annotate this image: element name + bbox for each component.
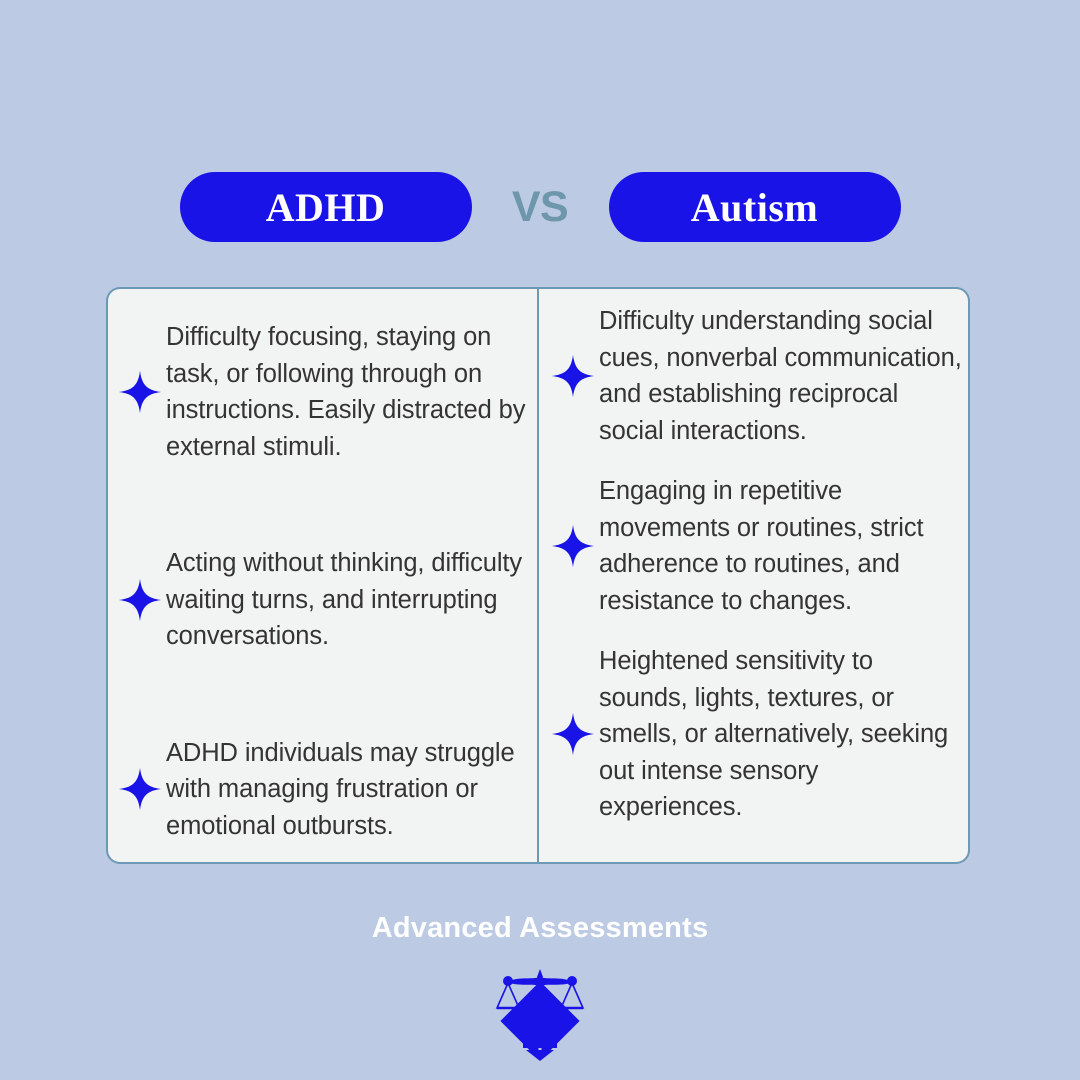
list-item-text: Difficulty understanding social cues, no… (599, 303, 962, 449)
sparkle-star-icon (118, 578, 162, 622)
sparkle-star-icon (118, 767, 162, 811)
list-item-text: ADHD individuals may struggle with manag… (166, 735, 527, 845)
autism-title-pill[interactable]: Autism (609, 172, 901, 242)
sparkle-star-icon (118, 370, 162, 414)
list-item-text: Difficulty focusing, staying on task, or… (166, 319, 527, 465)
list-item: Engaging in repetitive movements or rout… (551, 473, 962, 619)
list-item: ADHD individuals may struggle with manag… (118, 735, 527, 845)
list-item: Difficulty focusing, staying on task, or… (118, 319, 527, 465)
comparison-header: ADHD VS Autism (0, 172, 1080, 242)
brand-name: Advanced Assessments (0, 912, 1080, 945)
adhd-title-label: ADHD (266, 184, 386, 231)
list-item: Difficulty understanding social cues, no… (551, 303, 962, 449)
comparison-cards: Difficulty focusing, staying on task, or… (106, 287, 970, 864)
list-item: Acting without thinking, difficulty wait… (118, 545, 527, 655)
footer: Advanced Assessments (0, 912, 1080, 1068)
sparkle-star-icon (551, 524, 595, 568)
sparkle-star-icon (551, 712, 595, 756)
list-item-text: Heightened sensitivity to sounds, lights… (599, 643, 962, 826)
autism-title-label: Autism (691, 184, 818, 231)
list-item-text: Acting without thinking, difficulty wait… (166, 545, 527, 655)
scales-of-justice-icon (490, 963, 590, 1068)
autism-card: Difficulty understanding social cues, no… (538, 287, 970, 864)
brand-logo (0, 963, 1080, 1068)
adhd-title-pill[interactable]: ADHD (180, 172, 472, 242)
list-item: Heightened sensitivity to sounds, lights… (551, 643, 962, 826)
versus-label: VS (472, 183, 609, 232)
sparkle-star-icon (551, 354, 595, 398)
list-item-text: Engaging in repetitive movements or rout… (599, 473, 962, 619)
adhd-card: Difficulty focusing, staying on task, or… (106, 287, 538, 864)
